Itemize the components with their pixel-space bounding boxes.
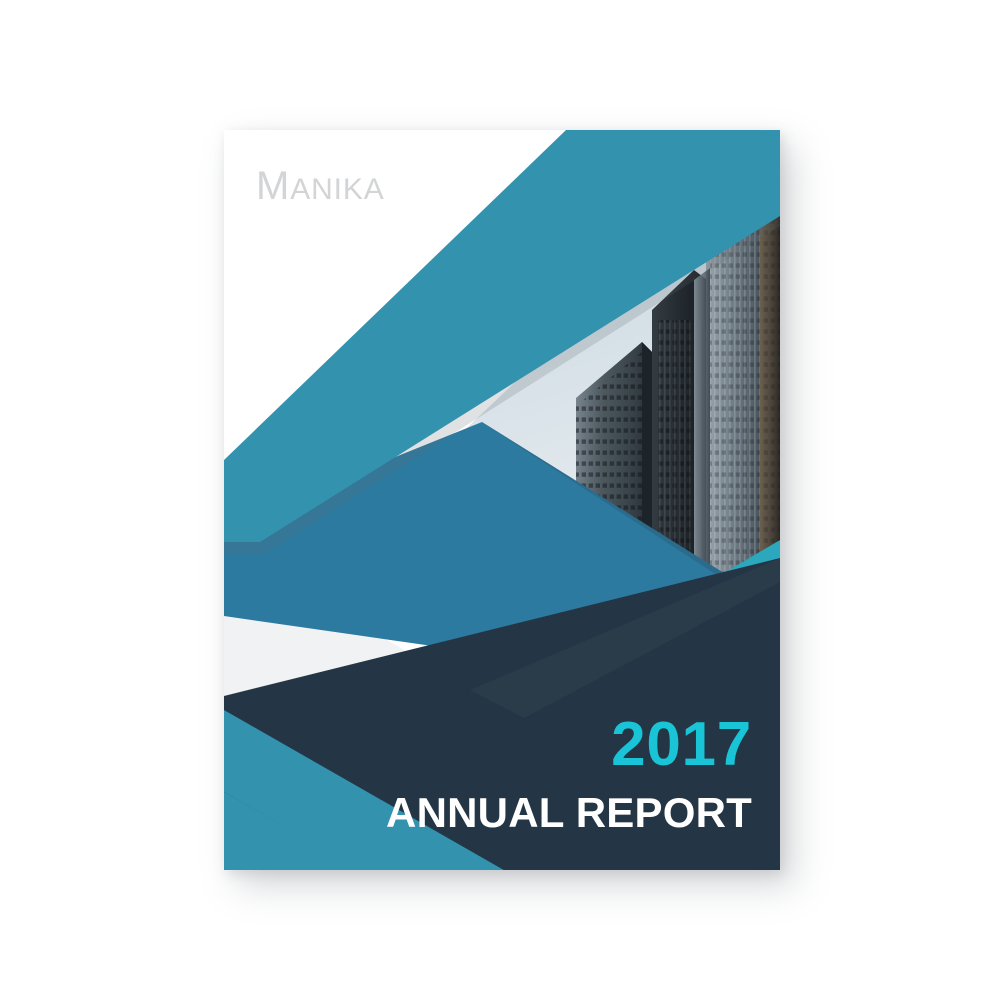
annual-report-poster: MANIKA 2017 ANNUAL REPORT bbox=[224, 130, 780, 870]
report-headline: ANNUAL REPORT bbox=[386, 792, 752, 834]
report-year: 2017 bbox=[386, 714, 752, 776]
brand-logo: MANIKA bbox=[256, 166, 385, 206]
canvas: MANIKA 2017 ANNUAL REPORT bbox=[0, 0, 1000, 1000]
brand-logo-rest: ANIKA bbox=[290, 173, 384, 206]
brand-logo-initial: M bbox=[256, 164, 290, 208]
cover-title-block: 2017 ANNUAL REPORT bbox=[386, 714, 752, 834]
